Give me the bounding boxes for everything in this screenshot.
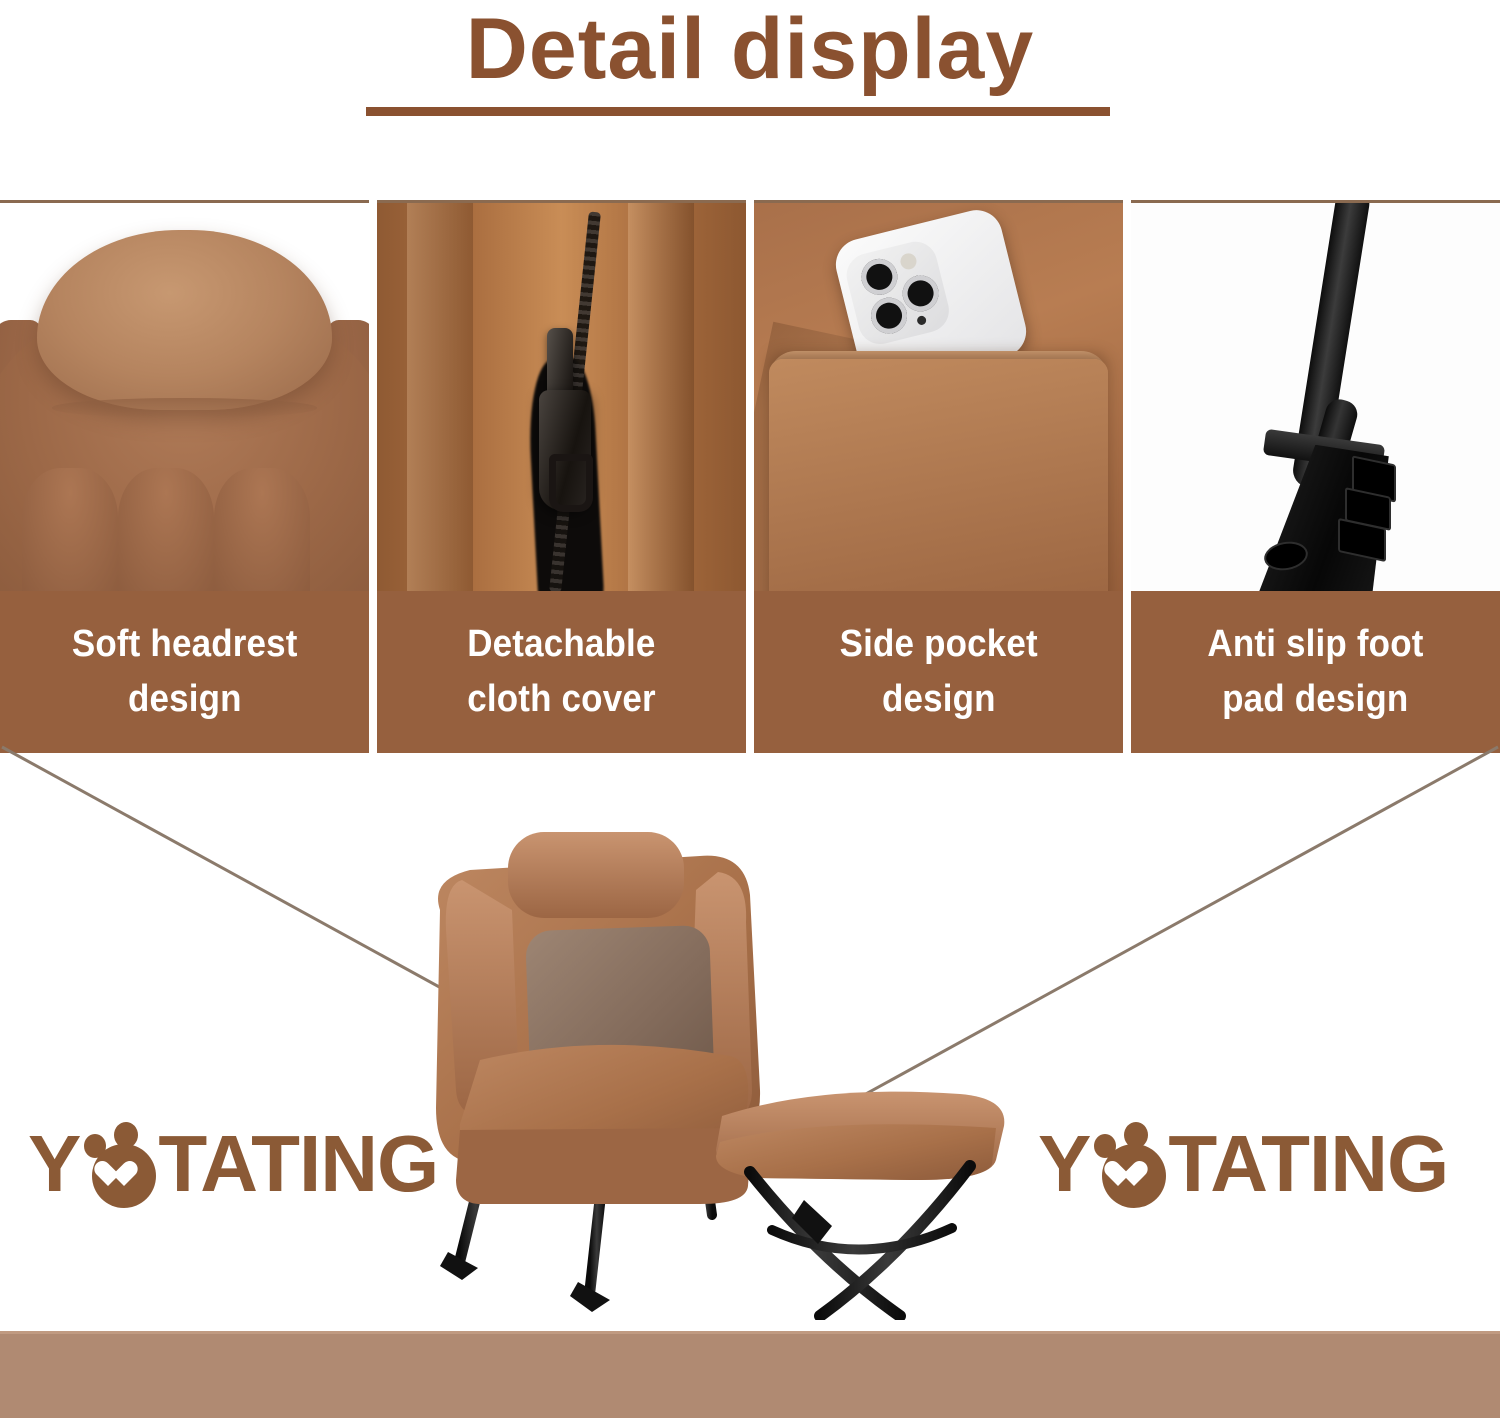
title-block: Detail display (0, 0, 1500, 180)
seat-tuft (118, 468, 214, 593)
side-pocket-photo (754, 203, 1123, 593)
feature-panel-strip: Soft headrest design Detachable cloth co… (0, 200, 1500, 750)
fur-fold (628, 203, 694, 593)
camera-flash (899, 251, 918, 270)
brand-logo-right: Y TATING (1038, 1112, 1448, 1216)
ottoman (716, 1092, 1004, 1316)
zipper-photo (377, 203, 746, 593)
caption-side-pocket: Side pocket design (754, 591, 1123, 753)
ottoman-x-leg (820, 1166, 970, 1316)
headrest-cushion-shape (37, 230, 332, 409)
caption-detachable-cover: Detachable cloth cover (377, 591, 746, 753)
brand-suffix: TATING (1168, 1118, 1448, 1210)
brand-wordmark: Y TATING (1038, 1118, 1448, 1210)
bottom-bar (0, 1334, 1500, 1418)
paw-print-icon (1092, 1118, 1166, 1210)
feature-panel-anti-slip-foot-pad[interactable]: Anti slip foot pad design (1131, 200, 1500, 753)
feature-panel-detachable-cover[interactable]: Detachable cloth cover (377, 200, 746, 753)
heart-icon (108, 1162, 138, 1190)
zipper-pull-icon (539, 390, 591, 510)
brand-logo-left: Y TATING (28, 1112, 438, 1216)
heart-icon (1118, 1162, 1148, 1190)
pocket-body (769, 359, 1108, 593)
caption-line-2: cloth cover (467, 672, 656, 727)
caption-line-1: Detachable (467, 617, 655, 672)
camera-plate (842, 237, 954, 349)
seat-tuft (214, 468, 310, 593)
caption-anti-slip-foot-pad: Anti slip foot pad design (1131, 591, 1500, 753)
brand-prefix: Y (1038, 1118, 1090, 1210)
headrest-seam (52, 398, 318, 418)
headrest-photo (0, 203, 369, 593)
camera-microphone (916, 314, 927, 325)
seat-tuft (22, 468, 118, 593)
fur-fold (407, 203, 473, 593)
chair-body (436, 832, 760, 1204)
feature-panel-soft-headrest[interactable]: Soft headrest design (0, 200, 369, 753)
headrest-pillow (508, 832, 684, 918)
brand-suffix: TATING (158, 1118, 438, 1210)
caption-line-1: Side pocket (839, 617, 1037, 672)
caption-line-1: Soft headrest (72, 617, 298, 672)
product-photo-chair-and-ottoman (400, 760, 1100, 1320)
camera-lens (858, 255, 902, 299)
paw-print-icon (82, 1118, 156, 1210)
brand-prefix: Y (28, 1118, 80, 1210)
foot-pad-photo (1131, 203, 1500, 593)
caption-line-1: Anti slip foot (1207, 617, 1423, 672)
caption-line-2: design (128, 672, 242, 727)
brand-wordmark: Y TATING (28, 1118, 438, 1210)
page-title: Detail display (0, 4, 1500, 94)
caption-line-2: pad design (1222, 672, 1408, 727)
title-underline (366, 107, 1110, 116)
chair-base (456, 1128, 752, 1204)
feature-panel-side-pocket[interactable]: Side pocket design (754, 200, 1123, 753)
caption-line-2: design (882, 672, 996, 727)
caption-soft-headrest: Soft headrest design (0, 591, 369, 753)
